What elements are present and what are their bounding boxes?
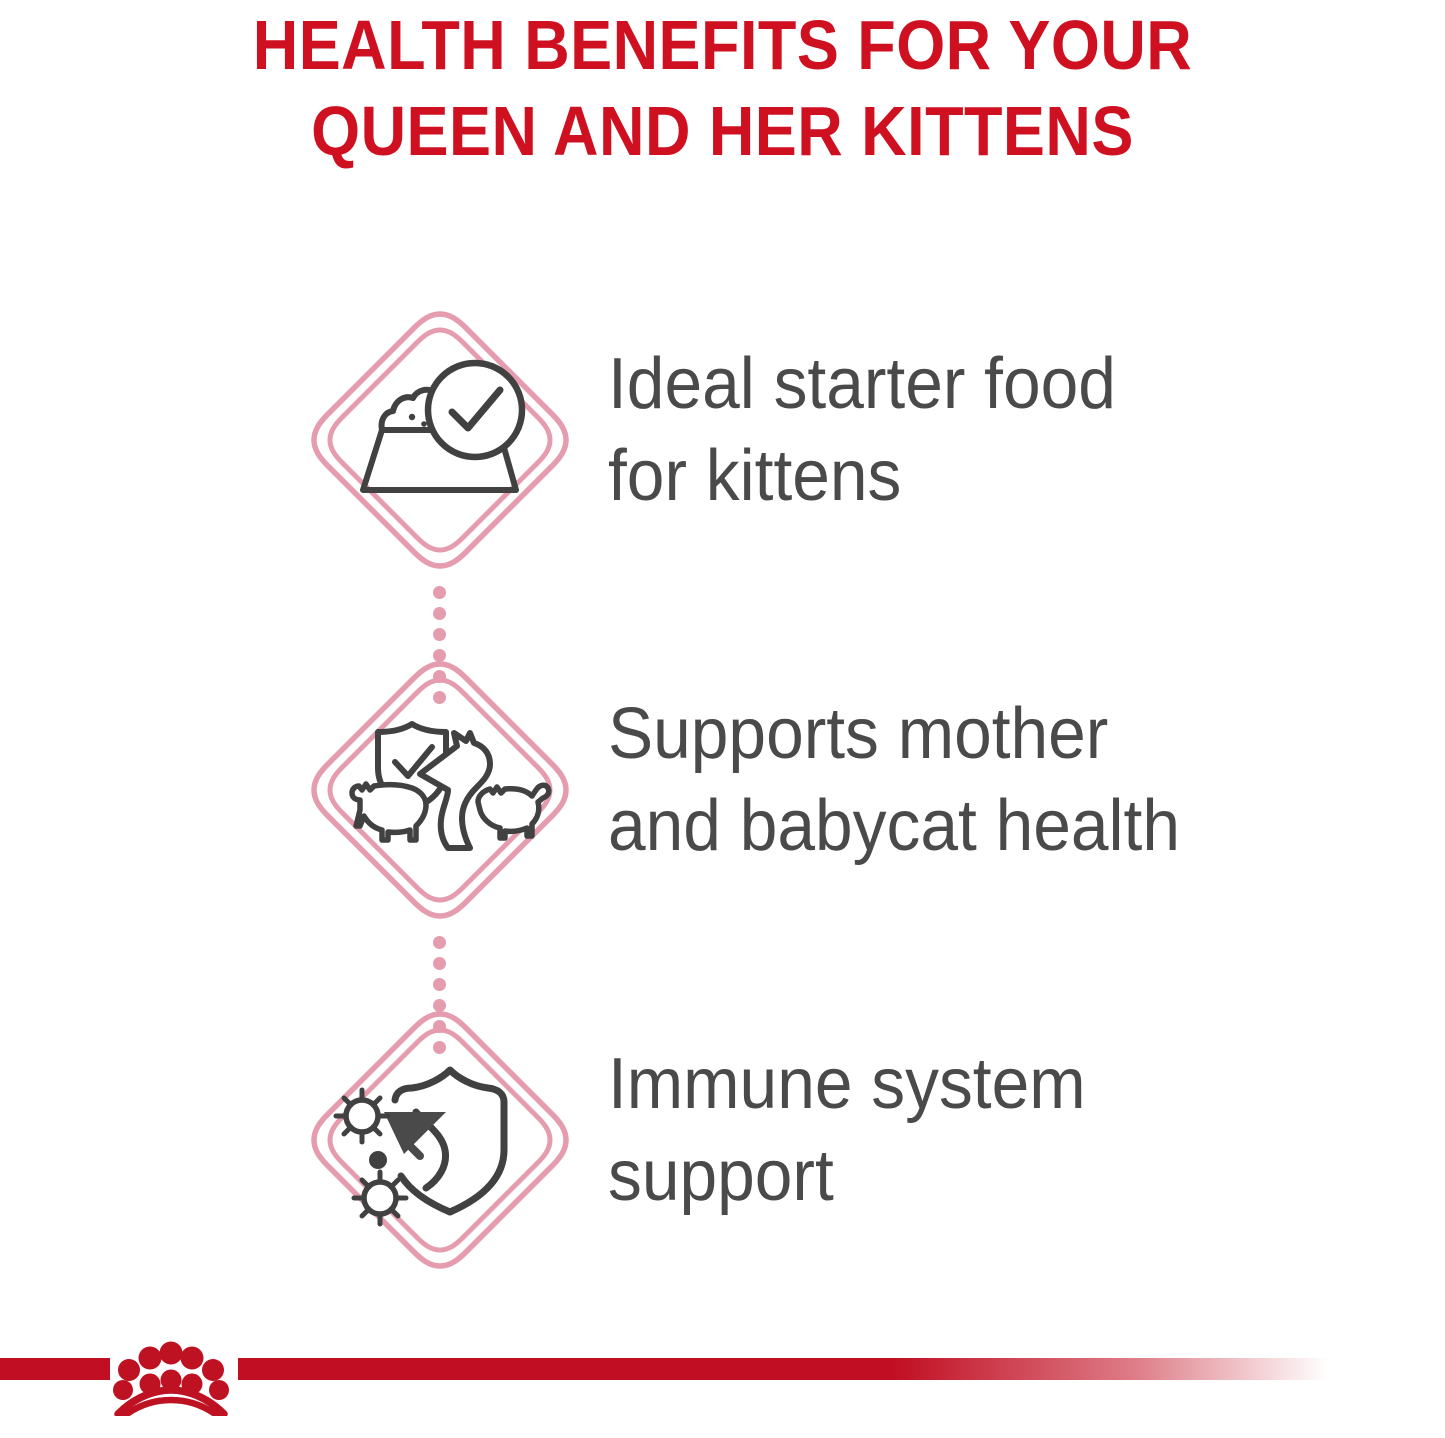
connector-dots-2 [426,936,454,1002]
footer-bar-right [238,1358,1328,1380]
page-title: HEALTH BENEFITS FOR YOUR QUEEN AND HER K… [0,0,1445,174]
benefit-text-2: Supports mother and babycat health [608,688,1360,872]
page-title-line-1: HEALTH BENEFITS FOR YOUR [72,0,1373,88]
benefit-text-1-line-2: for kittens [608,430,1360,522]
brand-footer [0,1326,1445,1416]
benefit-text-1: Ideal starter food for kittens [608,338,1360,522]
footer-bar-left [0,1358,110,1380]
benefit-item-1: Ideal starter food for kittens [0,300,1445,650]
immune-shield-germs-icon [300,1000,580,1280]
benefit-text-2-line-2: and babycat health [608,780,1360,872]
benefit-item-2: Supports mother and babycat health [0,650,1445,1000]
shield-mother-cat-kittens-icon [300,650,580,930]
royal-canin-crown-icon [96,1326,246,1416]
benefit-text-2-line-1: Supports mother [608,688,1360,780]
benefit-text-3-line-2: support [608,1130,1360,1222]
benefits-list: Ideal starter food for kittens [0,300,1445,1350]
benefit-item-3: Immune system support [0,1000,1445,1350]
page-title-line-2: QUEEN AND HER KITTENS [72,88,1373,174]
food-bowl-check-icon [300,300,580,580]
benefit-text-3-line-1: Immune system [608,1038,1360,1130]
benefit-text-3: Immune system support [608,1038,1360,1222]
benefit-text-1-line-1: Ideal starter food [608,338,1360,430]
connector-dots-1 [426,586,454,652]
